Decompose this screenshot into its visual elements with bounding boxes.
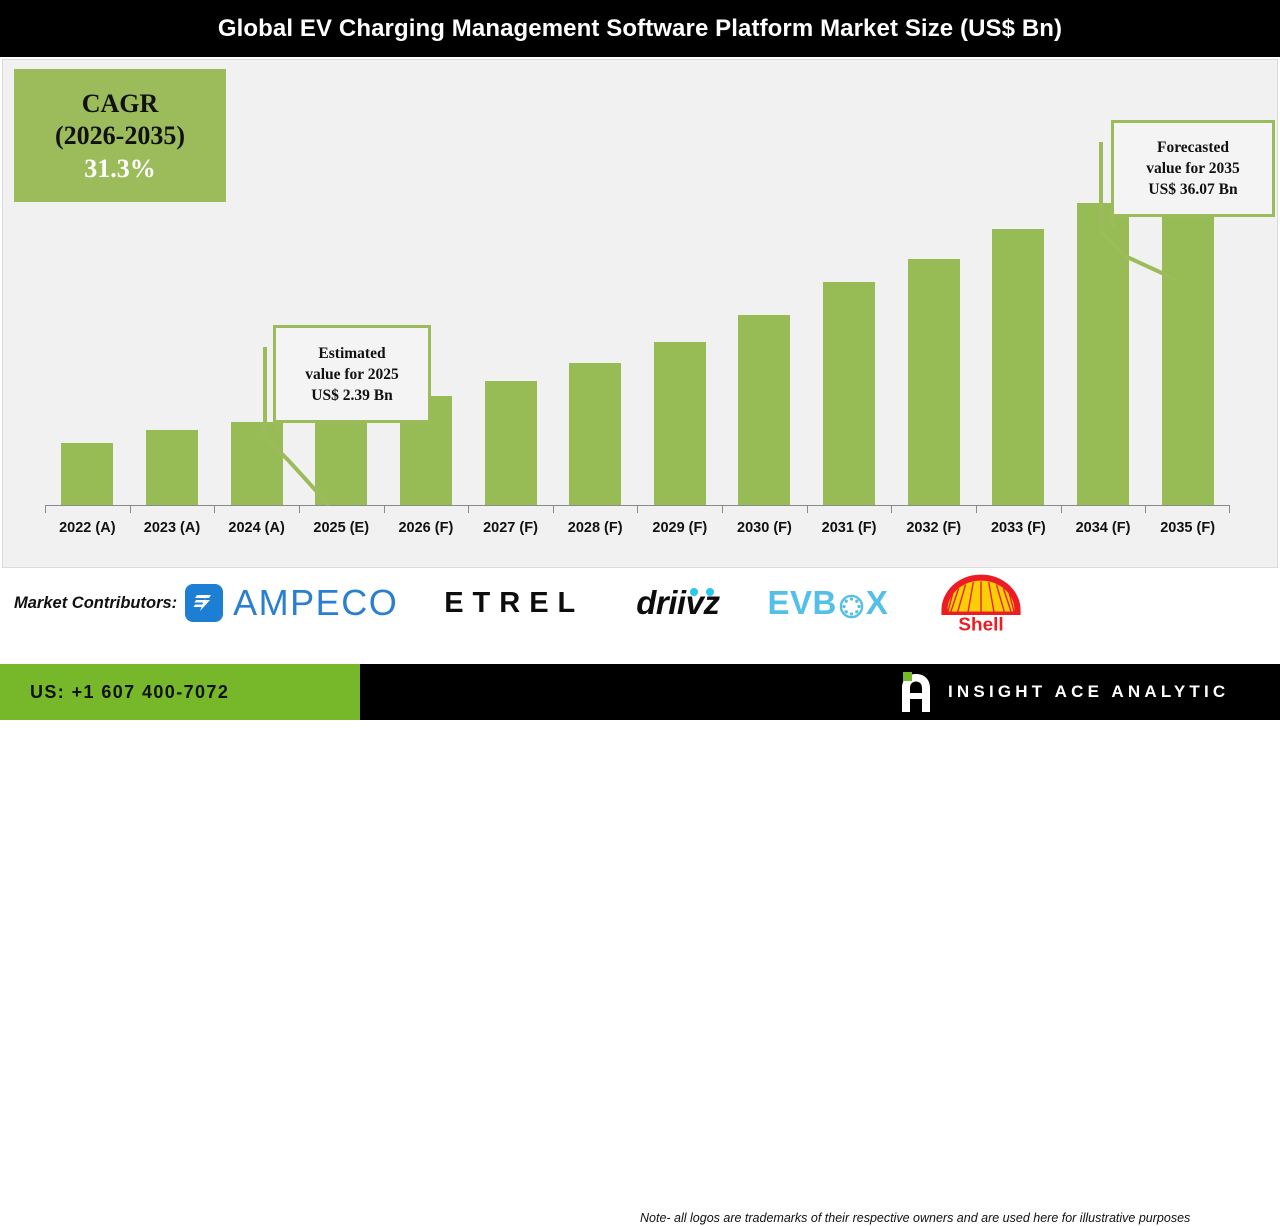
etrel-wordmark: ETREL xyxy=(444,587,584,620)
callout-forecast-2035: Forecasted value for 2035 US$ 36.07 Bn xyxy=(1079,120,1279,280)
logo-driivz: driivz xyxy=(636,584,719,622)
x-tick xyxy=(807,506,892,513)
callout-estimated-box: Estimated value for 2025 US$ 2.39 Bn xyxy=(273,325,431,423)
callout-forecast-line3: US$ 36.07 Bn xyxy=(1148,179,1237,200)
callout-forecast-line1: Forecasted xyxy=(1157,137,1229,158)
logo-trademark-note: Note- all logos are trademarks of their … xyxy=(640,1210,1274,1226)
logo-shell: Shell xyxy=(938,572,1024,634)
chart-panel: CAGR (2026-2035) 31.3% 2022 (A)2023 (A)2… xyxy=(2,59,1278,568)
evbox-text-after: X xyxy=(866,584,889,622)
contributors-strip: Market Contributors: AMPECO ETREL xyxy=(0,570,1280,662)
callout-forecast-box: Forecasted value for 2035 US$ 36.07 Bn xyxy=(1111,120,1275,217)
x-label-2027: 2027 (F) xyxy=(468,515,553,541)
shell-pecten-icon: Shell xyxy=(938,572,1024,634)
bar-2033[interactable] xyxy=(992,229,1044,505)
lightning-bolt-icon xyxy=(192,591,216,615)
bar-slot xyxy=(891,80,976,505)
x-axis-ticks xyxy=(45,506,1230,513)
logo-evbox: EVB X xyxy=(767,584,888,622)
footer-phone-number[interactable]: US: +1 607 400-7072 xyxy=(30,682,229,703)
bar-2032[interactable] xyxy=(908,259,960,505)
plot-area xyxy=(45,80,1230,506)
bar-slot xyxy=(553,80,638,505)
bar-slot xyxy=(807,80,892,505)
bar-2030[interactable] xyxy=(738,315,790,505)
x-tick xyxy=(553,506,638,513)
callout-forecast-line2: value for 2035 xyxy=(1146,158,1240,179)
x-label-2026: 2026 (F) xyxy=(384,515,469,541)
insightace-logo-icon xyxy=(900,672,932,712)
bar-2023[interactable] xyxy=(146,430,198,505)
x-label-2022: 2022 (A) xyxy=(45,515,130,541)
title-bar: Global EV Charging Management Software P… xyxy=(0,0,1280,57)
x-tick xyxy=(722,506,807,513)
x-tick xyxy=(976,506,1061,513)
evbox-text-before: EVB xyxy=(767,584,836,622)
bar-slot xyxy=(637,80,722,505)
callout-estimated-2025: Estimated value for 2025 US$ 2.39 Bn xyxy=(241,325,436,505)
bar-2029[interactable] xyxy=(654,342,706,505)
infographic-page: Global EV Charging Management Software P… xyxy=(0,0,1280,720)
x-tick xyxy=(1061,506,1146,513)
x-tick xyxy=(1145,506,1230,513)
x-label-2031: 2031 (F) xyxy=(807,515,892,541)
x-tick xyxy=(45,506,130,513)
page-title: Global EV Charging Management Software P… xyxy=(218,15,1062,43)
x-tick xyxy=(468,506,553,513)
bar-slot xyxy=(45,80,130,505)
brand-green-square-icon xyxy=(903,672,912,681)
x-label-2023: 2023 (A) xyxy=(130,515,215,541)
dotted-ring-icon xyxy=(838,593,865,620)
bar-slot xyxy=(976,80,1061,505)
x-tick xyxy=(637,506,722,513)
x-tick xyxy=(130,506,215,513)
logo-etrel: ETREL xyxy=(444,587,584,620)
brand-name: INSIGHT ACE ANALYTIC xyxy=(948,682,1229,702)
x-label-2024: 2024 (A) xyxy=(214,515,299,541)
ampeco-bolt-icon xyxy=(185,584,223,622)
bar-2022[interactable] xyxy=(61,443,113,505)
x-label-2035: 2035 (F) xyxy=(1145,515,1230,541)
x-tick xyxy=(891,506,976,513)
x-label-2034: 2034 (F) xyxy=(1061,515,1146,541)
x-tick xyxy=(384,506,469,513)
bar-2027[interactable] xyxy=(485,381,537,505)
bar-slot xyxy=(468,80,553,505)
bar-slot xyxy=(130,80,215,505)
footer-contact[interactable]: US: +1 607 400-7072 xyxy=(0,664,360,720)
bar-series xyxy=(45,80,1230,505)
bar-slot xyxy=(722,80,807,505)
ampeco-wordmark: AMPECO xyxy=(233,582,398,624)
x-tick xyxy=(299,506,384,513)
bar-2028[interactable] xyxy=(569,363,621,505)
footer-brand: INSIGHT ACE ANALYTIC xyxy=(900,664,1229,720)
evbox-wordmark: EVB X xyxy=(767,584,888,622)
callout-estimated-line1: Estimated xyxy=(318,343,385,364)
footer-bar: US: +1 607 400-7072 INSIGHT ACE ANALYTIC xyxy=(0,664,1280,720)
contributors-label: Market Contributors: xyxy=(14,594,177,613)
x-label-2025: 2025 (E) xyxy=(299,515,384,541)
x-axis-labels: 2022 (A)2023 (A)2024 (A)2025 (E)2026 (F)… xyxy=(45,515,1230,541)
x-label-2028: 2028 (F) xyxy=(553,515,638,541)
x-label-2032: 2032 (F) xyxy=(891,515,976,541)
svg-text:Shell: Shell xyxy=(959,615,1004,634)
x-tick xyxy=(214,506,299,513)
x-label-2030: 2030 (F) xyxy=(722,515,807,541)
x-label-2029: 2029 (F) xyxy=(637,515,722,541)
callout-estimated-line3: US$ 2.39 Bn xyxy=(311,385,392,406)
evbox-dotted-circle-icon xyxy=(838,590,865,617)
bar-2031[interactable] xyxy=(823,282,875,505)
callout-estimated-line2: value for 2025 xyxy=(305,364,399,385)
contributors-row: Market Contributors: AMPECO ETREL xyxy=(0,570,1280,636)
logo-ampeco: AMPECO xyxy=(185,582,398,624)
x-label-2033: 2033 (F) xyxy=(976,515,1061,541)
